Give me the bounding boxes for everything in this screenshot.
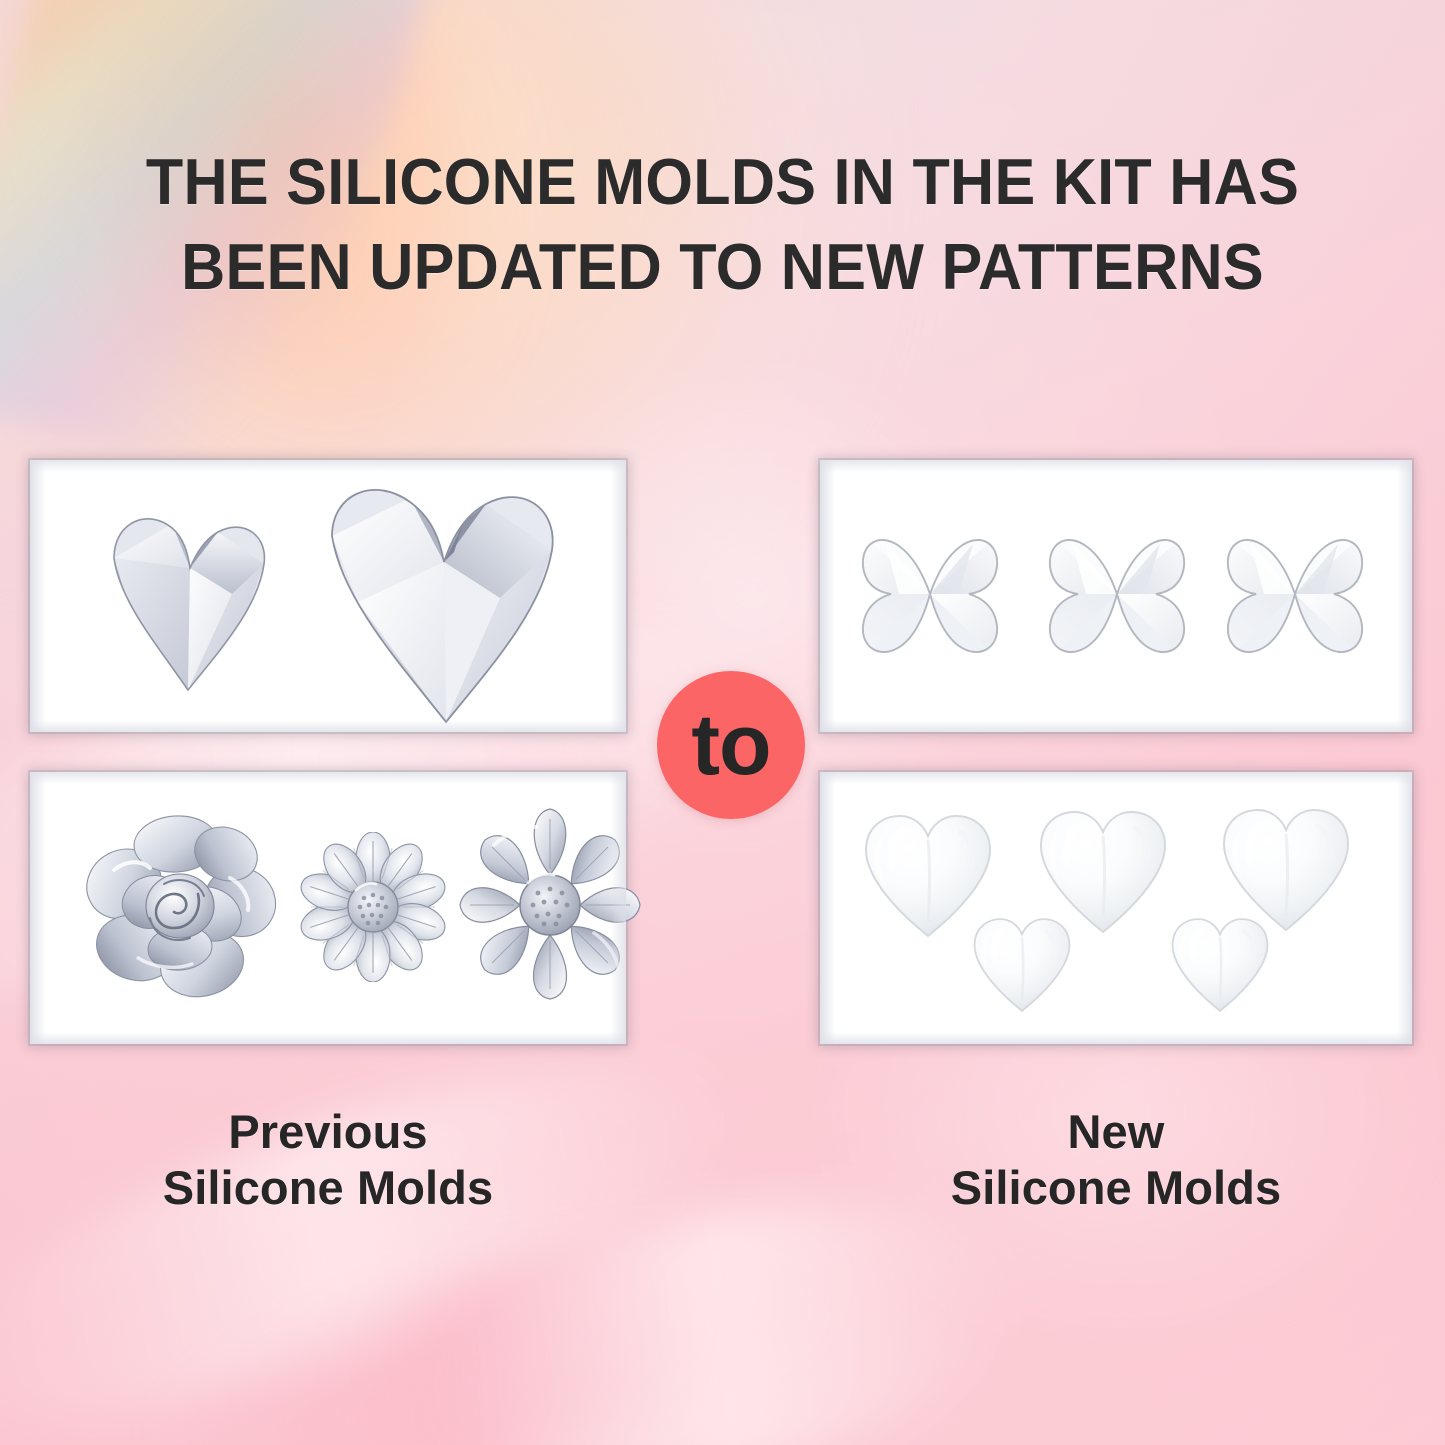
new-molds-caption: New Silicone Molds xyxy=(820,1104,1412,1217)
previous-caption-line-1: Previous xyxy=(30,1104,626,1160)
previous-caption-line-2: Silicone Molds xyxy=(30,1160,626,1216)
cosmos-flower-icon xyxy=(450,800,650,1010)
butterfly-icon xyxy=(855,522,1005,672)
previous-molds-caption: Previous Silicone Molds xyxy=(30,1104,626,1217)
faceted-heart-icon xyxy=(318,478,568,728)
new-butterflies-panel xyxy=(820,460,1412,732)
puffy-heart-icon xyxy=(1168,910,1272,1020)
faceted-heart-icon xyxy=(92,498,282,698)
new-butterflies-shapes xyxy=(820,460,1412,732)
previous-hearts-panel xyxy=(30,460,626,732)
headline-line-1: THE SILICONE MOLDS IN THE KIT HAS xyxy=(77,140,1368,225)
butterfly-icon xyxy=(1220,522,1370,672)
rose-flower-icon xyxy=(80,806,280,1006)
new-hearts-panel xyxy=(820,772,1412,1044)
infographic-canvas: THE SILICONE MOLDS IN THE KIT HAS BEEN U… xyxy=(0,0,1445,1445)
headline-line-2: BEEN UPDATED TO NEW PATTERNS xyxy=(77,225,1368,310)
to-badge: to xyxy=(657,671,805,819)
to-badge-label: to xyxy=(691,702,770,788)
new-caption-line-1: New xyxy=(820,1104,1412,1160)
previous-flowers-shapes xyxy=(30,772,626,1044)
butterfly-icon xyxy=(1042,522,1192,672)
daisy-flower-icon xyxy=(298,832,448,982)
puffy-heart-icon xyxy=(970,910,1074,1020)
previous-hearts-shapes xyxy=(30,460,626,732)
new-caption-line-2: Silicone Molds xyxy=(820,1160,1412,1216)
new-hearts-shapes xyxy=(820,772,1412,1044)
page-title: THE SILICONE MOLDS IN THE KIT HAS BEEN U… xyxy=(43,140,1401,309)
previous-flowers-panel xyxy=(30,772,626,1044)
